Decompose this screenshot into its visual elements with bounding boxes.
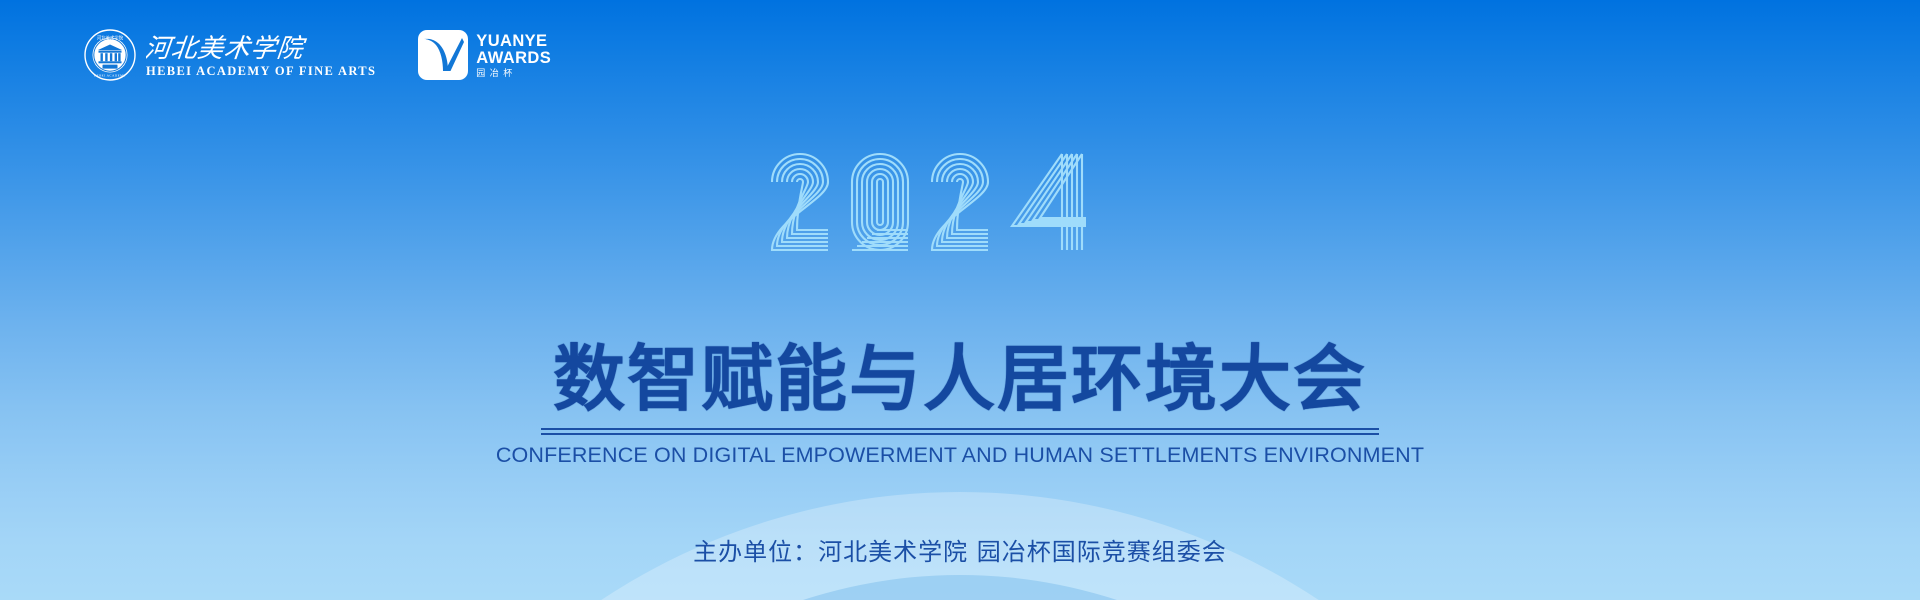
title-divider-line-bottom xyxy=(541,433,1379,435)
title-divider-line-top xyxy=(541,428,1379,430)
hebei-chinese-name: 河北美术学院 xyxy=(146,33,376,63)
svg-text:HEBEI ACADEMY: HEBEI ACADEMY xyxy=(94,74,126,78)
svg-text:河北美术学院: 河北美术学院 xyxy=(97,35,124,42)
logo-bar: 河北美术学院 HEBEI ACADEMY 河北美术学院 HEBEI ACADEM… xyxy=(84,26,551,84)
hebei-academy-seal-icon: 河北美术学院 HEBEI ACADEMY xyxy=(84,29,136,81)
yuanye-awards-logo[interactable]: YUANYE AWARDS 园冶杯 xyxy=(418,30,551,80)
yuanye-line1: YUANYE xyxy=(476,33,551,50)
yuanye-chinese-name: 园冶杯 xyxy=(476,69,551,78)
year-graphic xyxy=(0,138,1920,278)
organizer-line: 主办单位：河北美术学院 园冶杯国际竞赛组委会 xyxy=(0,532,1920,567)
yuanye-logo-text: YUANYE AWARDS 园冶杯 xyxy=(476,33,551,78)
decorative-inner-arc xyxy=(455,575,1465,600)
yuanye-swoosh-icon xyxy=(418,30,468,80)
conference-title-english: CONFERENCE ON DIGITAL EMPOWERMENT AND HU… xyxy=(496,443,1424,468)
title-divider xyxy=(541,428,1379,435)
svg-text:河北美术学院: 河北美术学院 xyxy=(146,34,308,63)
conference-title-chinese: 数智赋能与人居环境大会 xyxy=(553,338,1367,420)
hebei-english-name: HEBEI ACADEMY OF FINE ARTS xyxy=(146,65,376,78)
year-2024-icon xyxy=(760,138,1160,278)
title-block: 数智赋能与人居环境大会 CONFERENCE ON DIGITAL EMPOWE… xyxy=(0,338,1920,468)
hebei-logo-text: 河北美术学院 HEBEI ACADEMY OF FINE ARTS xyxy=(146,33,376,78)
hebei-academy-logo[interactable]: 河北美术学院 HEBEI ACADEMY 河北美术学院 HEBEI ACADEM… xyxy=(84,29,376,81)
yuanye-line2: AWARDS xyxy=(476,50,551,67)
conference-banner: 河北美术学院 HEBEI ACADEMY 河北美术学院 HEBEI ACADEM… xyxy=(0,0,1920,600)
